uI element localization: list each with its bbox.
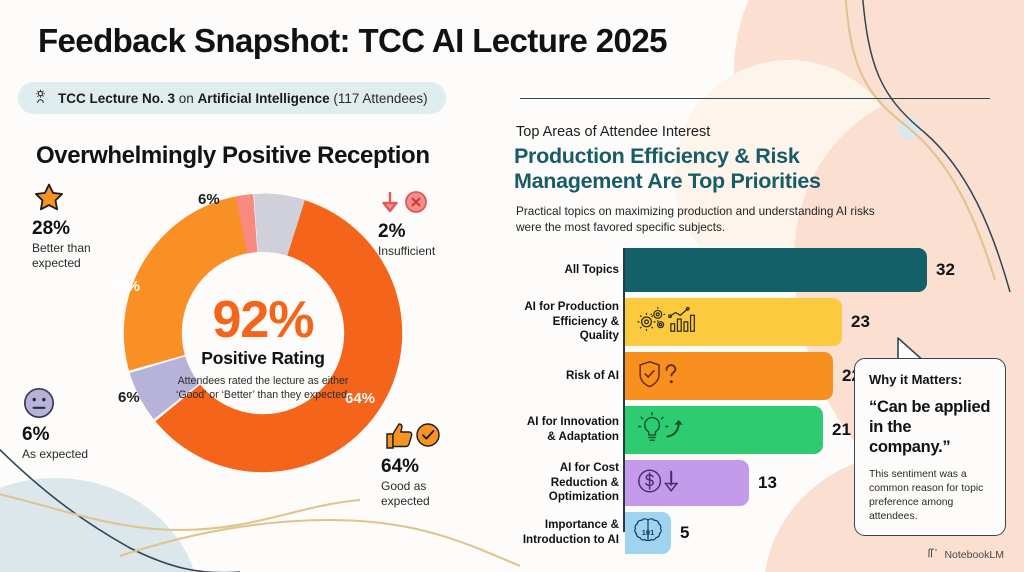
callout-quote: “Can be applied in the company.” xyxy=(869,398,992,457)
star-icon xyxy=(32,180,124,214)
bar-label: Importance & Introduction to AI xyxy=(516,518,625,548)
why-it-matters-callout: Why it Matters: “Can be applied in the c… xyxy=(854,358,1006,536)
bar-value: 13 xyxy=(758,473,777,493)
dollar-arrow-down-icon xyxy=(635,466,683,501)
donut-chart xyxy=(118,188,408,478)
bar-row: All Topics 32 xyxy=(516,248,986,292)
blue-blob-bottom-left xyxy=(0,478,200,572)
bar-value: 5 xyxy=(680,523,689,543)
legend-insufficient: 2% Insufficient xyxy=(378,183,474,259)
notebooklm-brand: NotebookLM xyxy=(927,547,1004,562)
bar-label: All Topics xyxy=(516,263,625,278)
badge-lecture-number: TCC Lecture No. 3 xyxy=(58,91,175,106)
legend-caption: Insufficient xyxy=(378,244,474,259)
legend-pct: 28% xyxy=(32,219,124,239)
badge-topic: Artificial Intelligence xyxy=(198,91,330,106)
notebooklm-icon xyxy=(927,547,939,562)
legend-caption: As expected xyxy=(22,447,132,462)
bar-risk-of-ai xyxy=(625,352,833,400)
legend-pct: 2% xyxy=(378,222,474,242)
bar-value: 32 xyxy=(936,260,955,280)
gear-person-icon xyxy=(32,88,49,108)
shield-question-icon xyxy=(635,358,683,395)
bar-production-efficiency xyxy=(625,298,842,346)
right-kicker: Top Areas of Attendee Interest xyxy=(516,124,710,140)
legend-as-expected: 6% As expected xyxy=(22,386,132,462)
callout-heading: Why it Matters: xyxy=(869,372,992,387)
badge-connector: on xyxy=(175,91,198,106)
right-description: Practical topics on maximizing productio… xyxy=(516,203,898,236)
brain-101-icon: 101 xyxy=(631,516,665,551)
callout-body: This sentiment was a common reason for t… xyxy=(869,468,992,523)
bar-importance-intro: 101 xyxy=(625,512,671,554)
blue-dot xyxy=(898,118,920,140)
bar-all-topics xyxy=(625,248,927,292)
donut-svg xyxy=(118,188,408,478)
left-section-heading: Overwhelmingly Positive Reception xyxy=(36,142,430,170)
bar-label: Risk of AI xyxy=(516,369,625,384)
bar-value: 23 xyxy=(851,312,870,332)
legend-pct: 6% xyxy=(22,425,132,445)
badge-attendees: (117 Attendees) xyxy=(330,91,428,106)
lightbulb-arrow-icon xyxy=(635,412,685,449)
page-title: Feedback Snapshot: TCC AI Lecture 2025 xyxy=(38,22,667,60)
donut-label-better: 28% xyxy=(110,278,140,295)
header-rule xyxy=(520,98,990,99)
thumbs-up-check-icon xyxy=(381,418,459,452)
bar-cost-reduction xyxy=(625,460,749,506)
infographic-canvas: Feedback Snapshot: TCC AI Lecture 2025 T… xyxy=(0,0,1024,572)
bar-value: 21 xyxy=(832,420,851,440)
right-title: Production Efficiency & Risk Management … xyxy=(514,144,894,195)
legend-caption: Good as expected xyxy=(381,479,459,510)
legend-pct: 64% xyxy=(381,457,459,477)
bar-innovation xyxy=(625,406,823,454)
legend-good-as-expected: 64% Good as expected xyxy=(381,418,459,510)
legend-better-than-expected: 28% Better than expected xyxy=(32,180,124,272)
neutral-face-icon xyxy=(22,386,132,420)
legend-caption: Better than expected xyxy=(32,241,124,272)
donut-label-good: 64% xyxy=(345,390,375,407)
donut-label-as-expected-top: 6% xyxy=(198,191,220,208)
gears-bargraph-icon xyxy=(635,305,703,340)
notebooklm-label: NotebookLM xyxy=(944,549,1004,561)
bar-label: AI for Innovation & Adaptation xyxy=(516,415,625,445)
svg-text:101: 101 xyxy=(642,527,655,536)
lecture-badge: TCC Lecture No. 3 on Artificial Intellig… xyxy=(18,82,446,114)
bar-label: AI for Cost Reduction & Optimization xyxy=(516,461,625,505)
bar-label: AI for Production Efficiency & Quality xyxy=(516,300,625,344)
arrow-down-x-icon xyxy=(378,183,474,217)
